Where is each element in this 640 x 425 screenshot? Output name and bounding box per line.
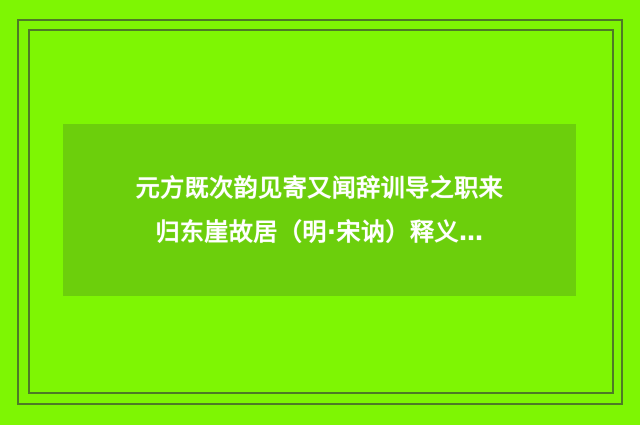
poem-title-block: 元方既次韵见寄又闻辞训导之职来 归东崖故居（明·宋讷）释义…	[63, 166, 576, 254]
poem-title-panel: 元方既次韵见寄又闻辞训导之职来 归东崖故居（明·宋讷）释义…	[63, 124, 576, 296]
poem-title-line-2: 归东崖故居（明·宋讷）释义…	[63, 210, 576, 254]
title-card: 元方既次韵见寄又闻辞训导之职来 归东崖故居（明·宋讷）释义…	[0, 0, 640, 425]
poem-title-line-1: 元方既次韵见寄又闻辞训导之职来	[63, 166, 576, 210]
